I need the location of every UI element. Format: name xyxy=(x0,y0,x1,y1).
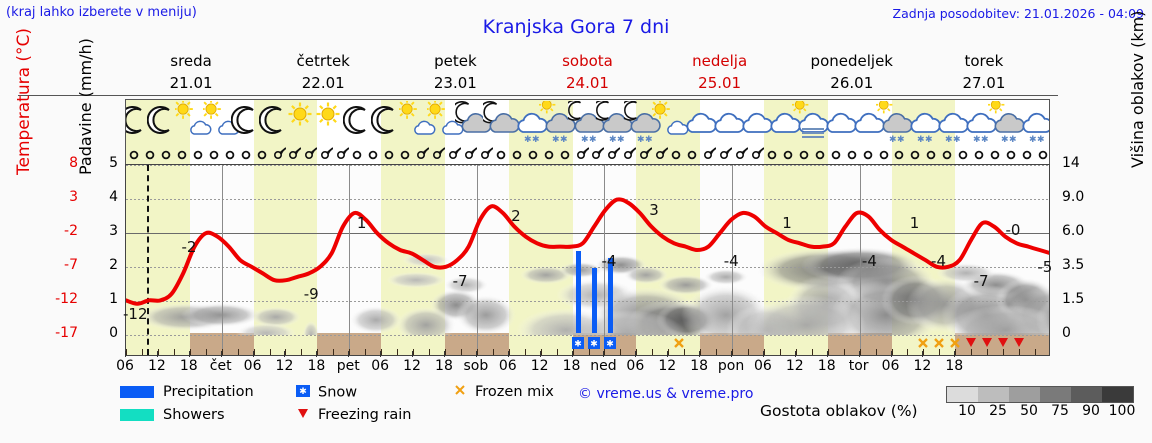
day-date: 26.01 xyxy=(786,73,918,95)
wind-barb-icon xyxy=(812,145,828,163)
day-date: 27.01 xyxy=(918,73,1050,95)
wind-barb-icon xyxy=(222,145,238,163)
temperature-point-label: -7 xyxy=(974,272,989,290)
x-mark-icon xyxy=(452,384,468,400)
hour-tick xyxy=(125,351,126,357)
hour-label: čet xyxy=(210,358,232,374)
precipitation-tick: 1 xyxy=(100,291,118,307)
wind-barb-icon xyxy=(238,145,254,163)
minor-hour-tick xyxy=(158,349,159,355)
wind-barb-icon xyxy=(636,145,652,163)
minor-hour-tick xyxy=(652,349,653,355)
minor-hour-tick xyxy=(987,349,988,355)
cloud-density-label: 25 xyxy=(989,403,1007,419)
hour-tick xyxy=(635,351,636,357)
cloud-density-scale xyxy=(946,386,1134,403)
hour-label: 18 xyxy=(435,358,453,374)
svg-text:✱: ✱ xyxy=(1029,135,1037,144)
minor-hour-tick xyxy=(668,349,669,355)
day-date: 22.01 xyxy=(257,73,389,95)
snow-marker-icon: ✱ xyxy=(604,337,616,349)
minor-hour-tick xyxy=(397,349,398,355)
forecast-plot: ✱✱✱ xyxy=(125,164,1050,356)
day-header-6: torek27.01 xyxy=(918,48,1050,95)
svg-text:✱: ✱ xyxy=(1001,135,1009,144)
precipitation-tick: 2 xyxy=(100,257,118,273)
legend-showers-label: Showers xyxy=(163,407,225,423)
hour-tick xyxy=(795,351,796,357)
temperature-point-label: -9 xyxy=(304,285,319,303)
legend-precipitation: Precipitation xyxy=(120,384,254,400)
day-name: petek xyxy=(389,51,521,73)
minor-hour-tick xyxy=(126,349,127,355)
minor-hour-tick xyxy=(254,349,255,355)
minor-hour-tick xyxy=(764,349,765,355)
precipitation-tick: 0 xyxy=(100,325,118,341)
minor-hour-tick xyxy=(222,349,223,355)
wind-barb-icon xyxy=(493,145,509,163)
day-header-5: ponedeljek26.01 xyxy=(786,48,918,95)
minor-hour-tick xyxy=(573,349,574,355)
minor-hour-tick xyxy=(780,349,781,355)
day-name: nedelja xyxy=(654,51,786,73)
day-header-4: nedelja25.01 xyxy=(654,48,786,95)
minor-hour-tick xyxy=(684,349,685,355)
wind-barb-icon xyxy=(206,145,222,163)
temperature-point-label: -7 xyxy=(453,272,468,290)
wind-barb-icon xyxy=(557,145,573,163)
cloud-density-label: 10 xyxy=(958,403,976,419)
wind-barb-icon xyxy=(365,145,381,163)
hour-tick xyxy=(891,351,892,357)
hour-label: 18 xyxy=(945,358,963,374)
minor-hour-tick xyxy=(190,349,191,355)
wind-barb-icon xyxy=(652,145,668,163)
hour-tick xyxy=(667,351,668,357)
cloud-height-tick: 3.5 xyxy=(1062,257,1102,273)
wind-barb-icon xyxy=(142,145,158,163)
svg-text:✱: ✱ xyxy=(609,135,617,144)
minor-hour-tick xyxy=(1003,349,1004,355)
cloud-height-axis-title: Višina oblakov (km) xyxy=(1128,11,1147,168)
day-date: 24.01 xyxy=(521,73,653,95)
minor-hour-tick xyxy=(716,349,717,355)
hour-tick xyxy=(284,351,285,357)
wind-barb-icon xyxy=(461,145,477,163)
hour-tick xyxy=(444,351,445,357)
temperature-point-label: -0 xyxy=(1005,221,1020,239)
day-header-strip: sreda21.01četrtek22.01petek23.01sobota24… xyxy=(125,48,1050,95)
wind-barb-icon xyxy=(349,145,365,163)
hour-label: ned xyxy=(590,358,616,374)
wind-barb-icon xyxy=(254,145,270,163)
minor-hour-tick xyxy=(796,349,797,355)
minor-hour-tick xyxy=(429,349,430,355)
triangle-down-icon xyxy=(295,407,311,423)
hour-label: 18 xyxy=(307,358,325,374)
wind-barb-icon xyxy=(1003,145,1019,163)
day-header-2: petek23.01 xyxy=(389,48,521,95)
cloud-height-tick: 1.5 xyxy=(1062,291,1102,307)
hour-tick xyxy=(221,351,222,357)
wind-barb-icon xyxy=(796,145,812,163)
hour-tick xyxy=(763,351,764,357)
x-mark-icon xyxy=(933,337,945,349)
minor-hour-tick xyxy=(955,349,956,355)
svg-text:✱: ✱ xyxy=(889,135,897,144)
snow-marker-icon: ✱ xyxy=(588,337,600,349)
minor-hour-tick xyxy=(238,349,239,355)
cloud-height-tick: 6.0 xyxy=(1062,223,1102,239)
hour-label: 18 xyxy=(818,358,836,374)
minor-hour-tick xyxy=(557,349,558,355)
minor-hour-tick xyxy=(301,349,302,355)
temperature-point-label: 1 xyxy=(357,214,367,232)
minor-hour-tick xyxy=(477,349,478,355)
svg-text:✱: ✱ xyxy=(945,135,953,144)
minor-hour-tick xyxy=(365,349,366,355)
minor-hour-tick xyxy=(732,349,733,355)
hour-tick xyxy=(476,351,477,357)
precipitation-axis-title: Padavine (mm/h) xyxy=(76,38,95,175)
wind-barb-icon xyxy=(541,145,557,163)
wind-barb-icon xyxy=(860,145,876,163)
temperature-tick: -2 xyxy=(42,223,78,239)
minor-hour-tick xyxy=(445,349,446,355)
wind-barb-icon xyxy=(987,145,1003,163)
wind-barb-icon xyxy=(891,145,907,163)
hour-label: 06 xyxy=(882,358,900,374)
wind-barb-icon xyxy=(126,145,142,163)
hour-tick xyxy=(412,351,413,357)
legend-freezing-rain-label: Freezing rain xyxy=(318,407,411,423)
hour-label: 12 xyxy=(276,358,294,374)
temperature-point-label: -5 xyxy=(1037,258,1052,276)
day-name: sreda xyxy=(125,51,257,73)
wind-barb-icon xyxy=(907,145,923,163)
temperature-point-label: -4 xyxy=(862,252,877,270)
minor-hour-tick xyxy=(270,349,271,355)
wind-barb-icon xyxy=(971,145,987,163)
wind-barb-icon xyxy=(190,145,206,163)
minor-hour-tick xyxy=(142,349,143,355)
day-name: četrtek xyxy=(257,51,389,73)
wind-barb-icon xyxy=(158,145,174,163)
minor-hour-tick xyxy=(589,349,590,355)
day-name: ponedeljek xyxy=(786,51,918,73)
wind-barb-icon xyxy=(413,145,429,163)
minor-hour-tick xyxy=(349,349,350,355)
cloud-density-step xyxy=(1009,387,1040,402)
hour-label: 18 xyxy=(690,358,708,374)
wind-barb-icon xyxy=(445,145,461,163)
cloud-height-tick: 9.0 xyxy=(1062,189,1102,205)
wind-barb-icon xyxy=(748,145,764,163)
cloud-density-title: Gostota oblakov (%) xyxy=(760,402,918,420)
temperature-point-label: -4 xyxy=(601,252,616,270)
wind-barb-icon xyxy=(381,145,397,163)
hour-axis: 061218čet061218pet061218sob061218ned0612… xyxy=(125,357,1050,377)
svg-text:✱: ✱ xyxy=(973,135,981,144)
minor-hour-tick xyxy=(413,349,414,355)
wind-barb-icon xyxy=(1035,145,1050,163)
temperature-tick: 8 xyxy=(42,155,78,171)
hour-tick xyxy=(316,351,317,357)
hour-tick xyxy=(603,351,604,357)
svg-text:✱: ✱ xyxy=(606,340,614,350)
hour-label: 18 xyxy=(180,358,198,374)
minor-hour-tick xyxy=(844,349,845,355)
hour-label: 06 xyxy=(754,358,772,374)
wind-barb-band xyxy=(125,144,1050,164)
day-header-0: sreda21.01 xyxy=(125,48,257,95)
temperature-point-label: -12 xyxy=(123,305,148,323)
temperature-tick: -7 xyxy=(42,257,78,273)
hour-tick xyxy=(922,351,923,357)
cloud-height-tick: 14 xyxy=(1062,155,1102,171)
wind-barb-icon xyxy=(301,145,317,163)
triangle-down-icon xyxy=(965,337,977,349)
minor-hour-tick xyxy=(700,349,701,355)
temperature-tick: -12 xyxy=(42,291,78,307)
hour-label: 12 xyxy=(531,358,549,374)
day-date: 23.01 xyxy=(389,73,521,95)
hour-label: 12 xyxy=(658,358,676,374)
temperature-axis-title: Temperatura (°C) xyxy=(14,28,34,175)
wind-barb-icon xyxy=(844,145,860,163)
minor-hour-tick xyxy=(971,349,972,355)
hour-tick xyxy=(954,351,955,357)
precipitation-tick: 3 xyxy=(100,223,118,239)
x-mark-icon xyxy=(949,337,961,349)
cloud-density-step xyxy=(978,387,1009,402)
minor-hour-tick xyxy=(525,349,526,355)
day-name: torek xyxy=(918,51,1050,73)
precipitation-tick: 4 xyxy=(100,189,118,205)
cloud-height-tick: 0 xyxy=(1062,325,1102,341)
day-header-1: četrtek22.01 xyxy=(257,48,389,95)
wind-barb-icon xyxy=(573,145,589,163)
wind-barb-icon xyxy=(317,145,333,163)
triangle-down-icon xyxy=(997,337,1009,349)
snow-marker-icon: ✱ xyxy=(572,337,584,349)
legend-showers: Showers xyxy=(120,407,225,423)
minor-hour-tick xyxy=(923,349,924,355)
hour-tick xyxy=(572,351,573,357)
wind-barb-icon xyxy=(477,145,493,163)
minor-hour-tick xyxy=(1035,349,1036,355)
minor-hour-tick xyxy=(461,349,462,355)
hour-label: 06 xyxy=(244,358,262,374)
hour-label: 06 xyxy=(499,358,517,374)
wind-barb-icon xyxy=(732,145,748,163)
day-name: sobota xyxy=(521,51,653,73)
wind-barb-icon xyxy=(780,145,796,163)
precipitation-swatch xyxy=(120,386,154,398)
hour-tick xyxy=(540,351,541,357)
hour-tick xyxy=(731,351,732,357)
minor-hour-tick xyxy=(828,349,829,355)
hour-label: pet xyxy=(337,358,360,374)
svg-text:✱: ✱ xyxy=(637,135,645,144)
svg-text:✱: ✱ xyxy=(917,135,925,144)
wind-barb-icon xyxy=(939,145,955,163)
hour-label: tor xyxy=(849,358,869,374)
triangle-down-icon xyxy=(1013,337,1025,349)
wind-barb-icon xyxy=(509,145,525,163)
x-mark-icon xyxy=(917,337,929,349)
temperature-point-label: -2 xyxy=(181,238,196,256)
hour-label: pon xyxy=(718,358,744,374)
hour-label: sob xyxy=(463,358,488,374)
wind-barb-icon xyxy=(620,145,636,163)
temperature-point-label: 2 xyxy=(511,207,521,225)
hour-tick xyxy=(699,351,700,357)
hour-tick xyxy=(348,351,349,357)
wind-barb-icon xyxy=(588,145,604,163)
wind-barb-icon xyxy=(429,145,445,163)
cloud-density-label: 100 xyxy=(1109,403,1136,419)
cloud-density-step xyxy=(1040,387,1071,402)
wind-barb-icon xyxy=(604,145,620,163)
hour-label: 12 xyxy=(403,358,421,374)
minor-hour-tick xyxy=(174,349,175,355)
wind-barb-icon xyxy=(174,145,190,163)
svg-text:✱: ✱ xyxy=(1037,135,1045,144)
copyright-label: © vreme.us & vreme.pro xyxy=(578,386,753,402)
svg-text:✱: ✱ xyxy=(524,135,532,144)
hour-tick xyxy=(859,351,860,357)
wind-barb-icon xyxy=(828,145,844,163)
wind-barb-icon xyxy=(285,145,301,163)
minor-hour-tick xyxy=(604,349,605,355)
cloud-density-label: 90 xyxy=(1082,403,1100,419)
temperature-point-label: -4 xyxy=(931,252,946,270)
snow-marker-icon: ✱ xyxy=(295,384,311,401)
minor-hour-tick xyxy=(317,349,318,355)
minor-hour-tick xyxy=(860,349,861,355)
hour-tick xyxy=(157,351,158,357)
legend-frozen-mix-label: Frozen mix xyxy=(475,384,554,400)
minor-hour-tick xyxy=(333,349,334,355)
hour-tick xyxy=(189,351,190,357)
wind-barb-icon xyxy=(764,145,780,163)
wind-barb-icon xyxy=(668,145,684,163)
hour-label: 18 xyxy=(563,358,581,374)
hour-label: 06 xyxy=(116,358,134,374)
hour-label: 12 xyxy=(786,358,804,374)
last-update-label: Zadnja posodobitev: 21.01.2026 - 04:09 xyxy=(893,6,1144,21)
minor-hour-tick xyxy=(636,349,637,355)
temperature-point-label: -4 xyxy=(724,252,739,270)
hour-label: 06 xyxy=(371,358,389,374)
legend-snow: ✱ Snow xyxy=(295,384,357,401)
cloud-density-step xyxy=(1102,387,1133,402)
temperature-point-label: 1 xyxy=(782,214,792,232)
temperature-tick: 3 xyxy=(42,189,78,205)
svg-text:✱: ✱ xyxy=(590,340,598,350)
svg-text:✱: ✱ xyxy=(574,340,582,350)
svg-text:✱: ✱ xyxy=(581,135,589,144)
legend-snow-label: Snow xyxy=(318,385,357,401)
hour-tick xyxy=(827,351,828,357)
wind-barb-icon xyxy=(684,145,700,163)
minor-hour-tick xyxy=(907,349,908,355)
legend-precipitation-label: Precipitation xyxy=(163,384,254,400)
wind-barb-icon xyxy=(270,145,286,163)
wind-barb-icon xyxy=(955,145,971,163)
temperature-tick: -17 xyxy=(42,325,78,341)
legend-freezing-rain: Freezing rain xyxy=(295,407,411,423)
cloud-density-label: 75 xyxy=(1051,403,1069,419)
temperature-point-label: 3 xyxy=(649,201,659,219)
minor-hour-tick xyxy=(748,349,749,355)
day-date: 25.01 xyxy=(654,73,786,95)
header-divider xyxy=(18,95,1058,96)
chart-legend: Precipitation Showers ✱ Snow Freezing ra… xyxy=(120,384,1150,440)
minor-hour-tick xyxy=(876,349,877,355)
hour-label: 06 xyxy=(626,358,644,374)
day-date: 21.01 xyxy=(125,73,257,95)
wind-barb-icon xyxy=(700,145,716,163)
hour-tick xyxy=(380,351,381,357)
cloud-density-step xyxy=(947,387,978,402)
hour-tick xyxy=(253,351,254,357)
svg-text:✱: ✱ xyxy=(299,387,307,397)
wind-barb-icon xyxy=(923,145,939,163)
cloud-density-step xyxy=(1071,387,1102,402)
wind-barb-icon xyxy=(1019,145,1035,163)
minor-hour-tick xyxy=(1019,349,1020,355)
precipitation-tick: 5 xyxy=(100,155,118,171)
temperature-curve xyxy=(126,165,1050,356)
x-mark-icon xyxy=(673,337,685,349)
minor-hour-tick xyxy=(493,349,494,355)
showers-swatch xyxy=(120,409,154,421)
hour-tick xyxy=(508,351,509,357)
wind-barb-icon xyxy=(525,145,541,163)
day-header-3: sobota24.01 xyxy=(521,48,653,95)
wind-barb-icon xyxy=(333,145,349,163)
cloud-snow-icon: ✱✱ xyxy=(1016,101,1050,144)
minor-hour-tick xyxy=(541,349,542,355)
legend-frozen-mix: Frozen mix xyxy=(452,384,554,400)
hour-label: 12 xyxy=(913,358,931,374)
minor-hour-tick xyxy=(285,349,286,355)
minor-hour-tick xyxy=(892,349,893,355)
cloud-density-scale-labels: 1025507590100 xyxy=(940,403,1140,421)
hour-label: 12 xyxy=(148,358,166,374)
minor-hour-tick xyxy=(509,349,510,355)
minor-hour-tick xyxy=(812,349,813,355)
cloud-density-label: 50 xyxy=(1020,403,1038,419)
minor-hour-tick xyxy=(206,349,207,355)
triangle-down-icon xyxy=(981,337,993,349)
weather-icon-band: ✱✱✱✱✱✱✱✱✱✱✱✱✱✱✱✱✱✱✱✱✱✱ xyxy=(125,99,1050,144)
minor-hour-tick xyxy=(939,349,940,355)
wind-barb-icon xyxy=(716,145,732,163)
wind-barb-icon xyxy=(397,145,413,163)
minor-hour-tick xyxy=(620,349,621,355)
temperature-point-label: 1 xyxy=(910,214,920,232)
wind-barb-icon xyxy=(876,145,892,163)
minor-hour-tick xyxy=(381,349,382,355)
svg-text:✱: ✱ xyxy=(552,135,560,144)
